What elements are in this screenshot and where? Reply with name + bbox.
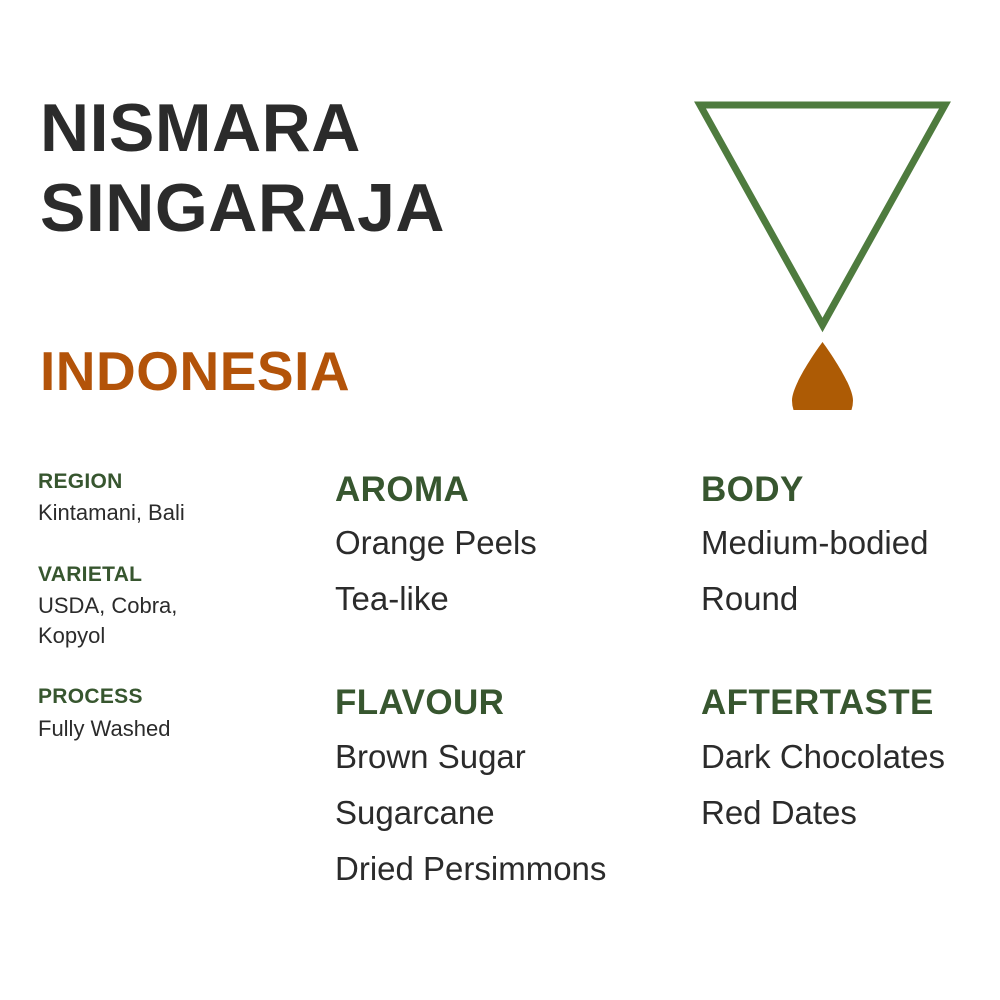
spec-heading-process: PROCESS: [38, 685, 318, 709]
spec-value-body: Medium-bodied Round: [701, 515, 1000, 627]
spec-heading-region: REGION: [38, 470, 318, 494]
spec-line: Brown Sugar: [335, 729, 690, 785]
spec-heading-aroma: AROMA: [335, 470, 690, 510]
spec-columns: REGION Kintamani, Bali VARIETAL USDA, Co…: [0, 470, 1000, 930]
brand-mark: [690, 95, 955, 410]
inverted-triangle-icon: [700, 105, 945, 325]
origin-spec-column: REGION Kintamani, Bali VARIETAL USDA, Co…: [38, 470, 318, 778]
spec-value-flavour: Brown Sugar Sugarcane Dried Persimmons: [335, 729, 690, 897]
product-name-line-1: NISMARA: [40, 88, 660, 168]
spec-heading-body: BODY: [701, 470, 1000, 510]
spec-line: Kopyol: [38, 621, 318, 651]
spec-value-aftertaste: Dark Chocolates Red Dates: [701, 729, 1000, 841]
spec-line: Dark Chocolates: [701, 729, 1000, 785]
spec-block-region: REGION Kintamani, Bali: [38, 470, 318, 529]
spec-value-varietal: USDA, Cobra, Kopyol: [38, 591, 318, 652]
spec-line: Tea-like: [335, 571, 690, 627]
spec-value-aroma: Orange Peels Tea-like: [335, 515, 690, 627]
spec-line: Sugarcane: [335, 785, 690, 841]
spec-block-body: BODY Medium-bodied Round: [701, 470, 1000, 627]
spec-line: Dried Persimmons: [335, 841, 690, 897]
coffee-label-card: NISMARA SINGARAJA INDONESIA REGION Kinta…: [0, 0, 1000, 1000]
spec-line: Fully Washed: [38, 714, 318, 744]
tasting-column-b: BODY Medium-bodied Round AFTERTASTE Dark…: [701, 470, 1000, 897]
tasting-column-a: AROMA Orange Peels Tea-like FLAVOUR Brow…: [335, 470, 690, 953]
spec-value-region: Kintamani, Bali: [38, 498, 318, 528]
spec-block-flavour: FLAVOUR Brown Sugar Sugarcane Dried Pers…: [335, 683, 690, 897]
spec-line: USDA, Cobra,: [38, 591, 318, 621]
spec-heading-varietal: VARIETAL: [38, 563, 318, 587]
spec-block-varietal: VARIETAL USDA, Cobra, Kopyol: [38, 563, 318, 652]
spec-block-aftertaste: AFTERTASTE Dark Chocolates Red Dates: [701, 683, 1000, 840]
spec-heading-aftertaste: AFTERTASTE: [701, 683, 1000, 723]
spec-heading-flavour: FLAVOUR: [335, 683, 690, 723]
droplet-icon: [792, 342, 853, 410]
spec-line: Medium-bodied: [701, 515, 1000, 571]
spec-block-aroma: AROMA Orange Peels Tea-like: [335, 470, 690, 627]
product-name-line-2: SINGARAJA: [40, 168, 660, 248]
origin-country: INDONESIA: [40, 344, 350, 399]
spec-block-process: PROCESS Fully Washed: [38, 685, 318, 744]
spec-line: Red Dates: [701, 785, 1000, 841]
spec-line: Orange Peels: [335, 515, 690, 571]
spec-value-process: Fully Washed: [38, 714, 318, 744]
product-name: NISMARA SINGARAJA: [40, 88, 660, 248]
spec-line: Kintamani, Bali: [38, 498, 318, 528]
spec-line: Round: [701, 571, 1000, 627]
